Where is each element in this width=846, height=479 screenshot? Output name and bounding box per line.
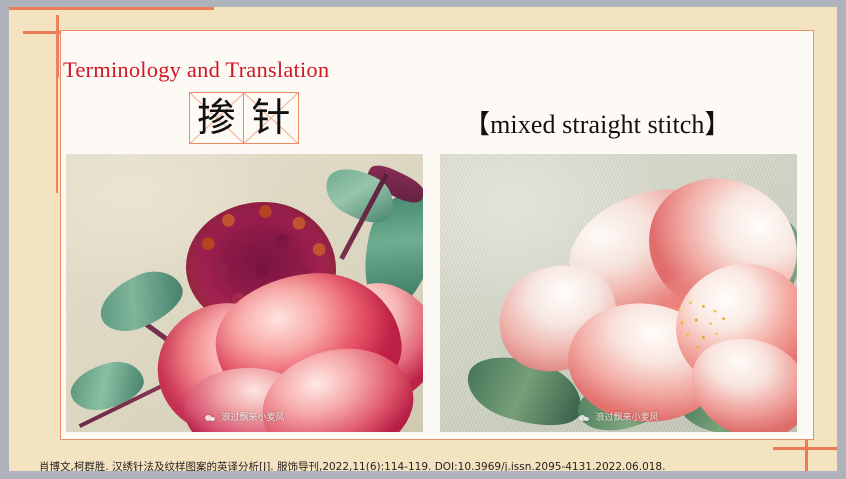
left-vertical-accent-line [56, 15, 58, 193]
watermark-right: 浪过飘来小麦风 [574, 413, 662, 424]
chinese-character-1: 掺 [190, 93, 243, 143]
watermark-text: 浪过飘来小麦风 [595, 414, 658, 423]
chinese-term-grid: 掺 针 [189, 92, 299, 144]
top-accent-rule [9, 7, 214, 10]
english-gloss: 【mixed straight stitch】 [464, 104, 731, 141]
character-cell-1: 掺 [189, 92, 244, 144]
page-title: Terminology and Translation [63, 57, 329, 83]
chinese-character-2: 针 [244, 93, 298, 143]
wechat-icon [204, 414, 217, 423]
embroidery-image-left: 浪过飘来小麦风 [66, 154, 423, 432]
slide-canvas: Terminology and Translation 掺 针 【mixed s… [9, 7, 837, 471]
watermark-text: 浪过飘来小麦风 [221, 414, 284, 423]
slide-root: Terminology and Translation 掺 针 【mixed s… [0, 0, 846, 479]
watermark-left: 浪过飘来小麦风 [200, 413, 288, 424]
stamen-cluster [666, 294, 738, 356]
character-cell-2: 针 [244, 92, 299, 144]
wechat-icon [578, 414, 591, 423]
embroidery-image-right: 浪过飘来小麦风 [440, 154, 797, 432]
citation-reference: 肖博文,柯群胜. 汉绣针法及纹样图案的英译分析[J]. 服饰导刊,2022,11… [39, 459, 665, 471]
